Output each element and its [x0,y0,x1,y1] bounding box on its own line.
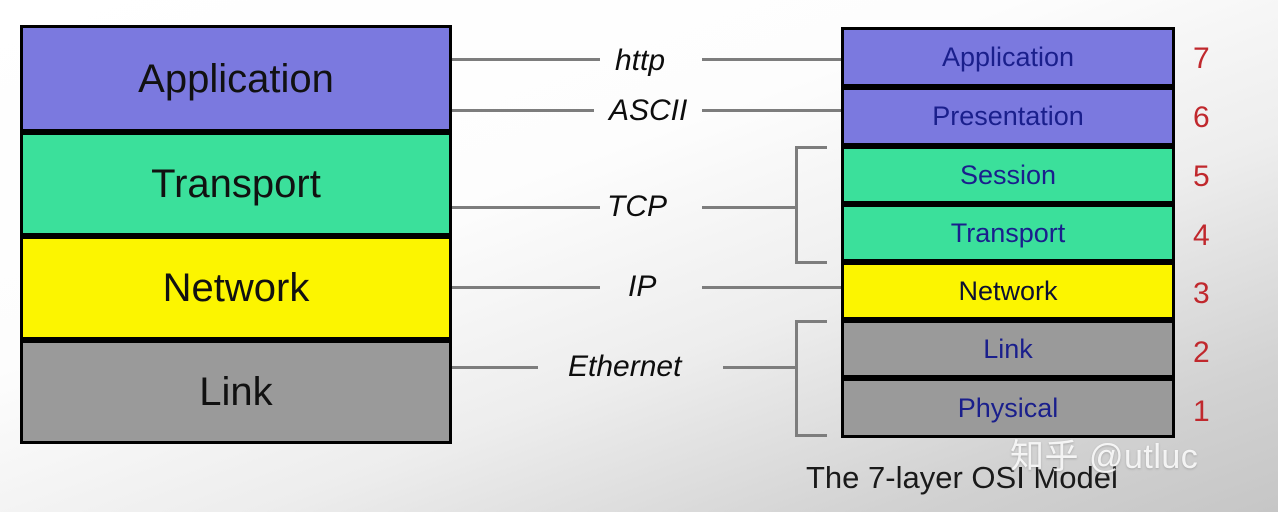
zhihu-watermark: 知乎 @utluc [1010,440,1198,474]
connector-left-tcp [452,206,600,209]
tcpip-layer-transport-label: Transport [151,164,321,204]
osi-layer-link-label: Link [983,336,1033,363]
osi-layer-number-5: 5 [1193,162,1210,192]
bracket-tcp-bottom-arm [795,261,827,264]
tcpip-layer-transport: Transport [23,132,449,236]
connector-left-http [452,58,600,61]
connector-right-ip [702,286,841,289]
protocol-label-http: http [615,46,665,76]
osi-layer-number-1: 1 [1193,397,1210,427]
osi-layer-session-label: Session [960,162,1056,189]
osi-stack: Application Presentation Session Transpo… [841,27,1175,438]
tcpip-layer-network-label: Network [163,268,310,308]
osi-layer-number-3: 3 [1193,279,1210,309]
osi-diagram-canvas: Application Transport Network Link http … [0,0,1278,512]
osi-layer-number-2: 2 [1193,338,1210,368]
bracket-ethernet-top-arm [795,320,827,323]
osi-layer-number-7: 7 [1193,44,1210,74]
osi-layer-application: Application [844,30,1172,87]
connector-right-http [702,58,841,61]
tcpip-stack: Application Transport Network Link [20,25,452,444]
connector-right-tcp [702,206,797,209]
osi-layer-transport-label: Transport [951,220,1066,247]
bracket-ethernet-bottom-arm [795,434,827,437]
bracket-ethernet-spine [795,320,798,437]
tcpip-layer-link-label: Link [199,372,272,412]
tcpip-layer-application: Application [23,28,449,132]
osi-layer-physical-label: Physical [958,395,1059,422]
osi-layer-transport: Transport [844,204,1172,262]
connector-left-ethernet [452,366,538,369]
osi-layer-presentation: Presentation [844,87,1172,146]
protocol-label-tcp: TCP [607,192,667,222]
connector-right-ethernet [723,366,797,369]
tcpip-layer-application-label: Application [138,59,334,99]
protocol-label-ethernet: Ethernet [568,352,681,382]
osi-layer-link: Link [844,320,1172,378]
protocol-label-ascii: ASCII [609,96,687,126]
osi-layer-network-label: Network [958,278,1057,305]
osi-layer-application-label: Application [942,44,1074,71]
connector-left-ip [452,286,600,289]
connector-left-ascii [452,109,594,112]
osi-layer-session: Session [844,146,1172,204]
osi-layer-number-6: 6 [1193,103,1210,133]
osi-layer-number-4: 4 [1193,221,1210,251]
tcpip-layer-link: Link [23,340,449,441]
osi-layer-presentation-label: Presentation [932,103,1084,130]
osi-layer-physical: Physical [844,378,1172,435]
connector-right-ascii [702,109,841,112]
osi-layer-network: Network [844,262,1172,320]
protocol-label-ip: IP [628,272,656,302]
bracket-tcp-top-arm [795,146,827,149]
bracket-tcp-spine [795,146,798,264]
tcpip-layer-network: Network [23,236,449,340]
